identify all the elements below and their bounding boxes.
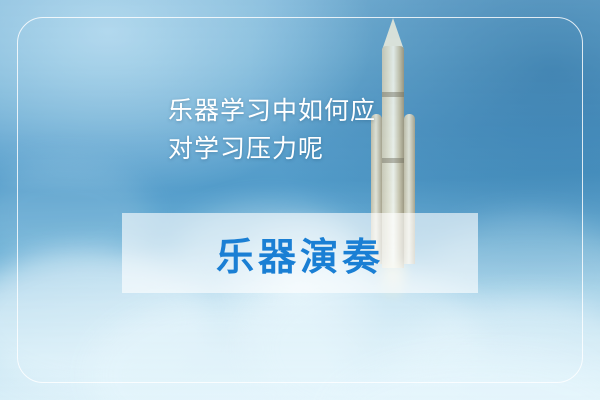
category-label: 乐器演奏: [122, 213, 478, 293]
image-canvas: 乐器学习中如何应 对学习压力呢 乐器演奏: [0, 0, 600, 400]
color-tint-overlay: [0, 0, 600, 400]
category-banner: 乐器演奏: [122, 213, 478, 293]
overlay-title: 乐器学习中如何应 对学习压力呢: [168, 92, 468, 168]
